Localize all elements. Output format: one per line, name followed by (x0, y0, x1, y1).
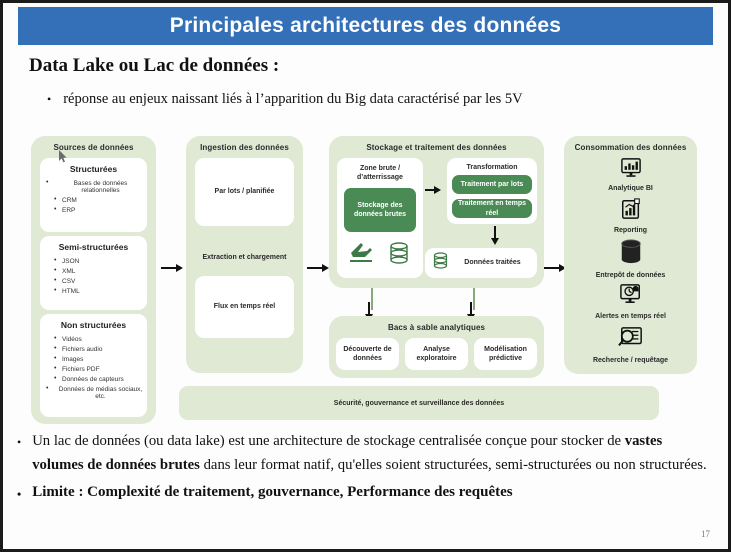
group-non-structurees-list: Vidéos Fichiers audio Images Fichiers PD… (40, 333, 147, 403)
list-item: CRM (54, 197, 147, 204)
item-recherche-requetage-label: Recherche / requêtage (593, 357, 668, 364)
architecture-diagram: Sources de données Structurées Bases de … (31, 136, 707, 424)
column-stockage-header: Stockage et traitement des données (329, 136, 544, 152)
box-transformation-title: Transformation (447, 163, 537, 172)
list-item: XML (54, 268, 147, 275)
group-semi-structurees-title: Semi-structurées (40, 242, 147, 252)
slide-title: Principales architectures des données (170, 14, 561, 38)
landing-plane-icon (348, 240, 374, 269)
box-stockage-donnees-brutes: Stockage des données brutes (344, 188, 416, 232)
body-bullets: • Un lac de données (ou data lake) est u… (17, 430, 714, 502)
box-par-lots-label: Par lots / planifiée (215, 187, 275, 196)
list-item: Vidéos (54, 336, 147, 343)
column-ingestion: Ingestion des données Par lots / planifi… (186, 136, 303, 373)
item-analytique-bi-label: Analytique BI (608, 185, 653, 192)
section-heading: Data Lake ou Lac de données : (29, 55, 279, 77)
column-ingestion-header: Ingestion des données (186, 136, 303, 152)
body-bullet-1-part2: dans leur format natif, qu'elles soient … (200, 457, 707, 473)
box-analyse-exploratoire-label: Analyse exploratoire (405, 345, 468, 364)
body-bullet-1-text: Un lac de données (ou data lake) est une… (32, 430, 714, 478)
box-zone-brute-title: Zone brute / d’atterrissage (337, 164, 423, 183)
group-structurees-list: Bases de données relationnelles CRM ERP (40, 177, 147, 217)
box-par-lots: Par lots / planifiée (195, 158, 294, 226)
group-non-structurees: Non structurées Vidéos Fichiers audio Im… (40, 314, 147, 417)
box-traitement-temps-reel: Traitement en temps réel (452, 199, 532, 218)
arrow-stockage-to-consommation (544, 264, 566, 272)
arrow-brute-to-transformation (425, 186, 441, 194)
mouse-cursor-icon (59, 150, 68, 163)
column-sources-header: Sources de données (31, 136, 156, 152)
box-zone-brute: Zone brute / d’atterrissage Stockage des… (337, 158, 423, 278)
column-sources: Sources de données Structurées Bases de … (31, 136, 156, 424)
list-item: Données de capteurs (54, 376, 147, 383)
box-modelisation-predictive: Modélisation prédictive (474, 338, 537, 370)
box-analyse-exploratoire: Analyse exploratoire (405, 338, 468, 370)
arrow-sources-to-ingestion (161, 264, 183, 272)
box-traitement-temps-reel-label: Traitement en temps réel (452, 199, 532, 218)
bullet-glyph: • (17, 430, 21, 452)
list-item: Fichiers audio (54, 346, 147, 353)
database-stack-icon (389, 242, 409, 269)
list-item: JSON (54, 258, 147, 265)
list-item: HTML (54, 288, 147, 295)
arrow-ingestion-to-stockage (307, 264, 329, 272)
search-query-icon (618, 326, 644, 355)
panel-bacs-a-sable: Bacs à sable analytiques Découverte de d… (329, 316, 544, 378)
list-item: CSV (54, 278, 147, 285)
database-cylinder-icon (619, 239, 643, 270)
group-non-structurees-title: Non structurées (40, 320, 147, 330)
item-alertes-temps-reel-label: Alertes en temps réel (595, 313, 666, 320)
box-flux-temps-reel-label: Flux en temps réel (214, 302, 275, 311)
bi-analytics-icon (620, 158, 642, 183)
body-bullet-2: • Limite : Complexité de traitement, gou… (17, 484, 714, 502)
item-alertes-temps-reel: Alertes en temps réel (564, 284, 697, 320)
bullet-glyph: • (17, 484, 21, 502)
box-decouverte-donnees: Découverte de données (336, 338, 399, 370)
list-item: Données de médias sociaux, etc. (54, 386, 147, 401)
body-bullet-1: • Un lac de données (ou data lake) est u… (17, 430, 714, 478)
column-consommation-header: Consommation des données (564, 136, 697, 152)
lead-bullet-row: • réponse au enjeux naissant liés à l’ap… (47, 91, 708, 108)
group-semi-structurees-list: JSON XML CSV HTML (40, 255, 147, 298)
box-stockage-donnees-brutes-label: Stockage des données brutes (344, 201, 416, 220)
list-item: Fichiers PDF (54, 366, 147, 373)
band-extraction-chargement: Extraction et chargement (186, 254, 303, 261)
security-governance-label: Sécurité, gouvernance et surveillance de… (334, 400, 504, 407)
database-stack-icon (433, 252, 448, 274)
list-item: ERP (54, 207, 147, 214)
slide-canvas: Principales architectures des données Da… (0, 0, 731, 552)
box-transformation: Transformation Traitement par lots Trait… (447, 158, 537, 224)
page-number: 17 (701, 529, 710, 539)
slide-title-bar: Principales architectures des données (18, 7, 713, 45)
box-donnees-traitees: Données traitées (425, 248, 537, 278)
arrow-transformation-to-donnees-traitees (491, 226, 499, 245)
panel-bacs-a-sable-header: Bacs à sable analytiques (329, 316, 544, 332)
list-item: Bases de données relationnelles (54, 180, 147, 195)
box-modelisation-predictive-label: Modélisation prédictive (474, 345, 537, 364)
item-analytique-bi: Analytique BI (564, 158, 697, 192)
group-structurees-title: Structurées (40, 164, 147, 174)
box-traitement-par-lots: Traitement par lots (452, 175, 532, 194)
box-flux-temps-reel: Flux en temps réel (195, 276, 294, 338)
column-stockage: Stockage et traitement des données Zone … (329, 136, 544, 288)
alert-monitor-icon (619, 284, 643, 311)
report-chart-icon (620, 198, 642, 225)
box-traitement-par-lots-label: Traitement par lots (461, 180, 524, 189)
lead-bullet-text: réponse au enjeux naissant liés à l’appa… (63, 91, 522, 108)
body-bullet-1-part1: Un lac de données (ou data lake) est une… (32, 433, 625, 449)
item-reporting-label: Reporting (614, 227, 647, 234)
box-donnees-traitees-label: Données traitées (448, 258, 537, 267)
body-bullet-2-text: Limite : Complexité de traitement, gouve… (32, 484, 512, 501)
bullet-glyph: • (47, 91, 51, 106)
list-item: Images (54, 356, 147, 363)
group-semi-structurees: Semi-structurées JSON XML CSV HTML (40, 236, 147, 310)
group-structurees: Structurées Bases de données relationnel… (40, 158, 147, 232)
item-reporting: Reporting (564, 198, 697, 234)
item-recherche-requetage: Recherche / requêtage (564, 326, 697, 364)
item-entrepot-donnees: Entrepôt de données (564, 239, 697, 279)
security-governance-bar: Sécurité, gouvernance et surveillance de… (179, 386, 659, 420)
column-consommation: Consommation des données Analytique BI (564, 136, 697, 374)
box-decouverte-donnees-label: Découverte de données (336, 345, 399, 364)
item-entrepot-donnees-label: Entrepôt de données (596, 272, 666, 279)
